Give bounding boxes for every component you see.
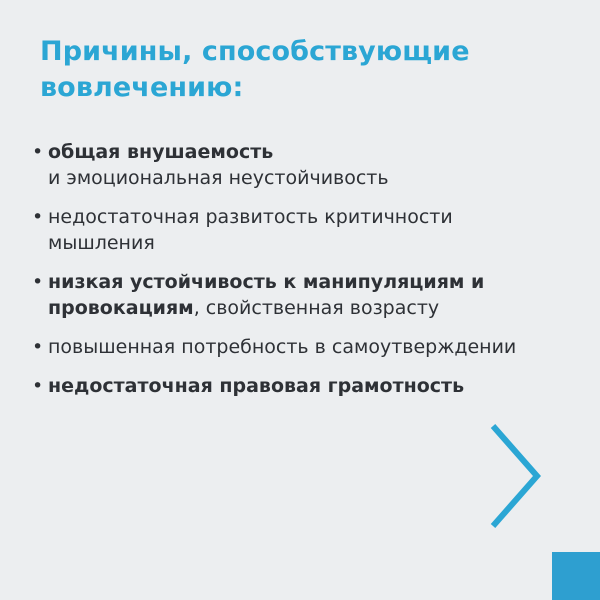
list-item-text: повышенная потребность в самоутверждении: [48, 334, 542, 360]
page-title: Причины, способствующие вовлечению:: [40, 34, 580, 105]
list-item-normal: , свойственная возрасту: [194, 297, 439, 319]
list-item-normal: повышенная потребность в самоутверждении: [48, 336, 516, 358]
bullet-marker-icon: •: [32, 373, 48, 399]
bullet-marker-icon: •: [32, 139, 48, 165]
list-item-normal: недостаточная развитость критичности мыш…: [48, 206, 453, 254]
slide: Причины, способствующие вовлечению: • об…: [0, 0, 600, 600]
list-item: • повышенная потребность в самоутвержден…: [32, 334, 542, 360]
list-item-text: общая внушаемостьи эмоциональная неустой…: [48, 139, 542, 191]
bullet-marker-icon: •: [32, 334, 48, 360]
list-item-bold: общая внушаемость: [48, 141, 273, 163]
corner-square-decoration: [552, 552, 600, 600]
list-item: • низкая устойчивость к манипуляциям и п…: [32, 269, 542, 321]
list-item-bold: недостаточная правовая грамотность: [48, 375, 464, 397]
bullet-marker-icon: •: [32, 204, 48, 230]
list-item-normal: и эмоциональная неустойчивость: [48, 167, 389, 189]
bullet-marker-icon: •: [32, 269, 48, 295]
bullet-list: • общая внушаемостьи эмоциональная неуст…: [32, 139, 542, 412]
list-item: • недостаточная развитость критичности м…: [32, 204, 542, 256]
list-item-text: низкая устойчивость к манипуляциям и про…: [48, 269, 542, 321]
chevron-right-icon: [487, 420, 547, 532]
list-item-text: недостаточная правовая грамотность: [48, 373, 542, 399]
list-item: • недостаточная правовая грамотность: [32, 373, 542, 399]
list-item: • общая внушаемостьи эмоциональная неуст…: [32, 139, 542, 191]
list-item-text: недостаточная развитость критичности мыш…: [48, 204, 542, 256]
